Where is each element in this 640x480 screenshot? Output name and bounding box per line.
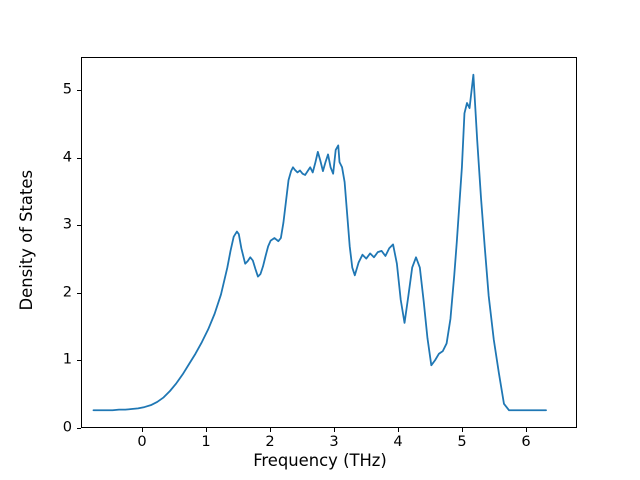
plot-area bbox=[81, 57, 577, 428]
x-tick-label-1: 1 bbox=[201, 435, 210, 450]
x-tick-mark-3 bbox=[334, 428, 335, 432]
x-tick-mark-4 bbox=[398, 428, 399, 432]
x-tick-label-3: 3 bbox=[329, 435, 338, 450]
dos-curve-svg bbox=[82, 58, 576, 427]
x-tick-label-0: 0 bbox=[137, 435, 146, 450]
x-tick-label-2: 2 bbox=[265, 435, 274, 450]
y-tick-label-1: 1 bbox=[63, 353, 72, 368]
figure-canvas: Density of States 0 1 2 3 4 5 0 1 2 3 4 … bbox=[0, 0, 640, 480]
x-tick-mark-2 bbox=[270, 428, 271, 432]
y-axis-label-text: Density of States bbox=[19, 170, 35, 310]
dos-line-series bbox=[93, 75, 546, 411]
y-axis-label: Density of States bbox=[15, 0, 39, 480]
y-tick-label-3: 3 bbox=[63, 218, 72, 233]
x-tick-mark-6 bbox=[526, 428, 527, 432]
x-tick-label-6: 6 bbox=[521, 435, 530, 450]
x-tick-mark-5 bbox=[462, 428, 463, 432]
y-tick-label-4: 4 bbox=[63, 150, 72, 165]
y-tick-mark-0 bbox=[77, 428, 81, 429]
y-tick-label-0: 0 bbox=[63, 421, 72, 436]
y-tick-label-2: 2 bbox=[63, 286, 72, 301]
y-tick-label-5: 5 bbox=[63, 83, 72, 98]
x-tick-mark-1 bbox=[206, 428, 207, 432]
x-tick-label-5: 5 bbox=[457, 435, 466, 450]
x-axis-label: Frequency (THz) bbox=[0, 453, 640, 469]
x-tick-label-4: 4 bbox=[393, 435, 402, 450]
x-tick-mark-0 bbox=[142, 428, 143, 432]
